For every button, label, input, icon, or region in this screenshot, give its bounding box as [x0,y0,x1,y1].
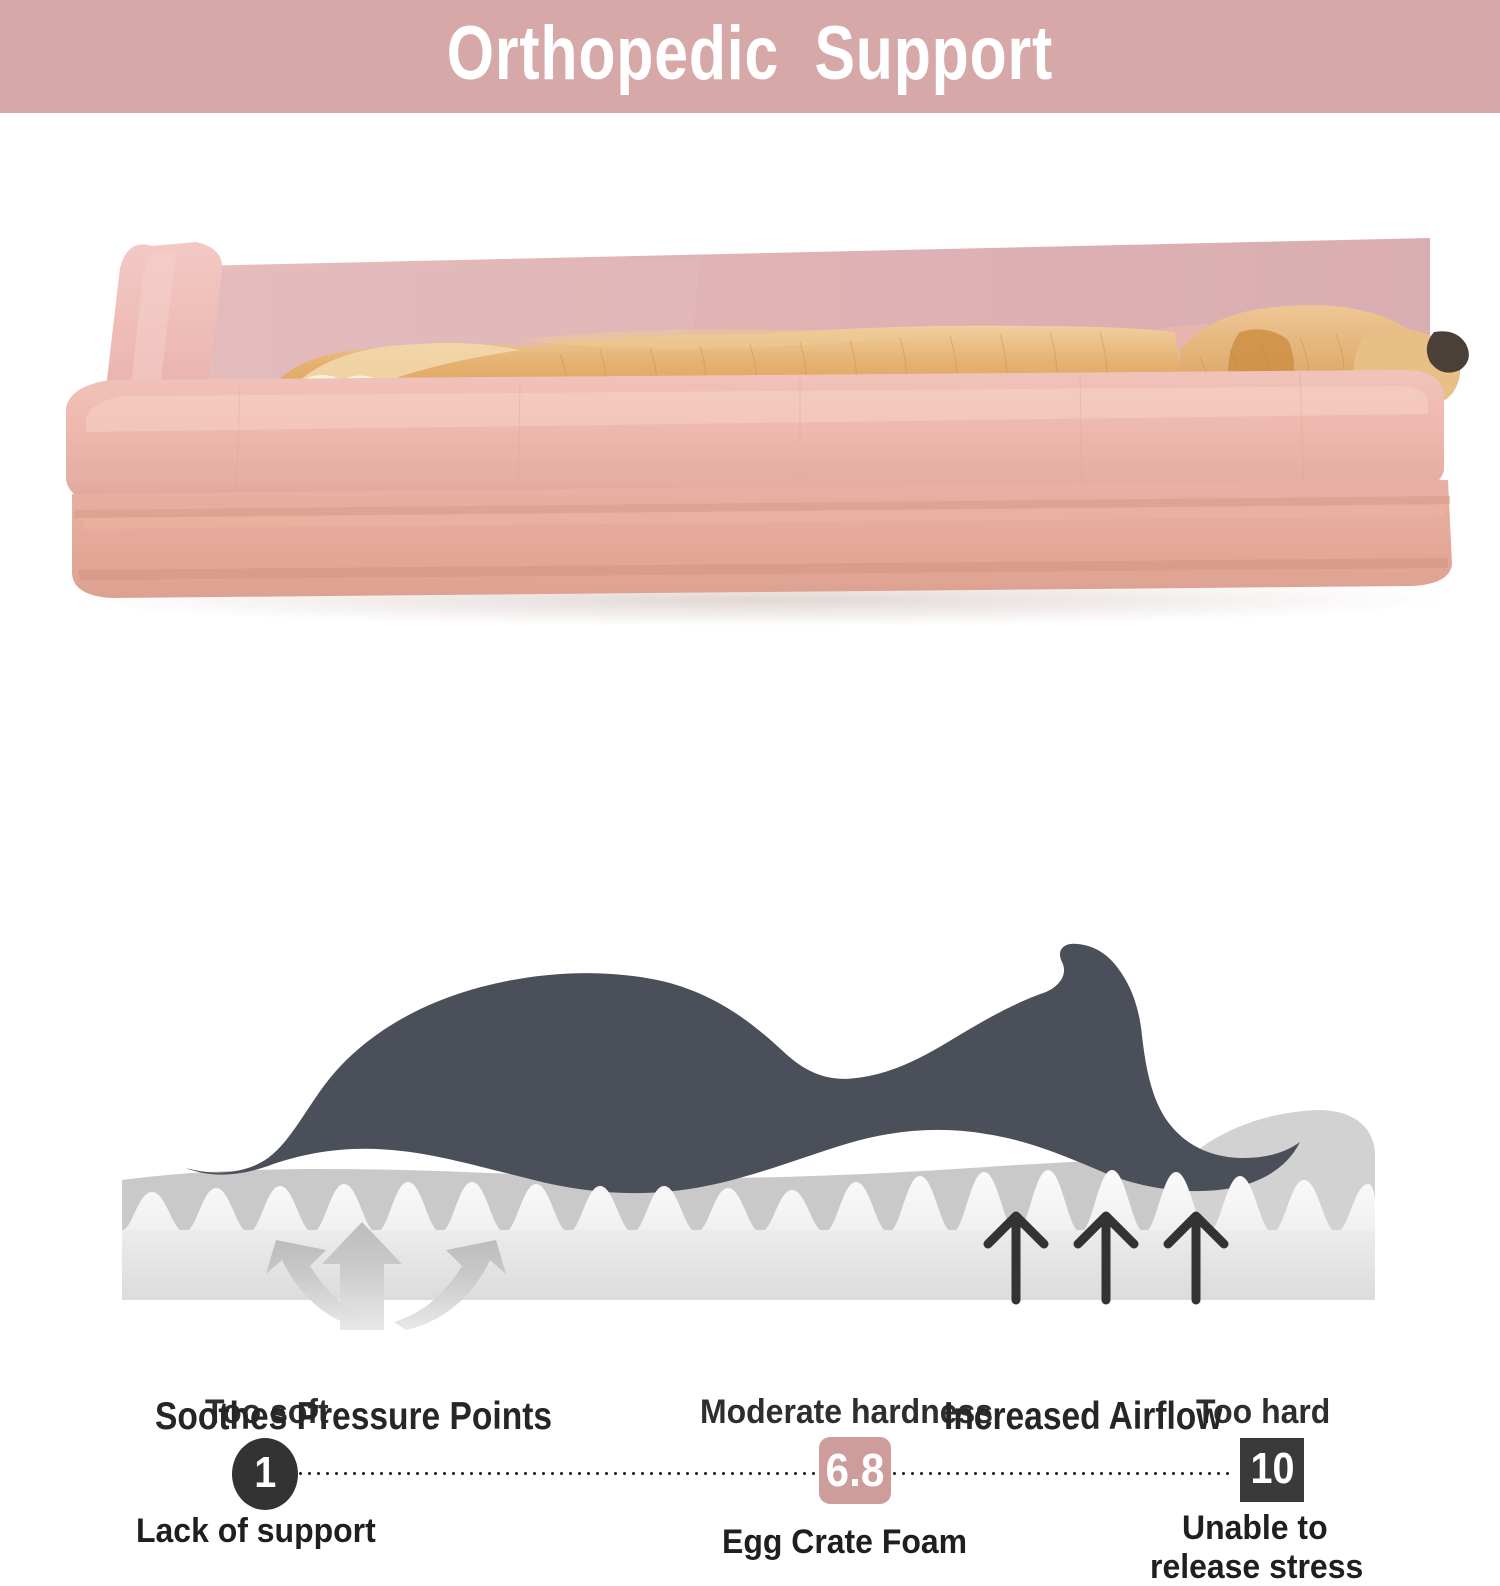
caption-pressure-points: Soothes Pressure Points [155,1395,552,1439]
scale-high-value: 10 [1250,1447,1294,1493]
scale-mid-marker: 6.8 [819,1437,891,1504]
scale-dotted-line [296,1471,1231,1476]
scale-high-bottom-label-line1: Unable to [1182,1509,1328,1547]
scale-high-marker: 10 [1240,1438,1304,1502]
product-photo [0,118,1500,658]
foam-diagram [0,930,1500,1330]
scale-mid-bottom-label: Egg Crate Foam [722,1523,967,1561]
dog-silhouette [186,944,1300,1193]
page-title: Orthopedic Support [447,16,1053,98]
caption-airflow: Increased Airflow [944,1395,1222,1439]
scale-mid-value: 6.8 [826,1447,885,1495]
scale-low-marker: 1 [232,1438,298,1510]
scale-high-bottom-label-line2: release stress [1150,1548,1363,1586]
bed-base [72,480,1452,598]
hardness-scale: Too soft 1 Lack of support Moderate hard… [0,690,1500,915]
scale-low-bottom-label: Lack of support [136,1512,376,1550]
scale-low-value: 1 [254,1451,276,1498]
header-banner: Orthopedic Support [0,0,1500,113]
